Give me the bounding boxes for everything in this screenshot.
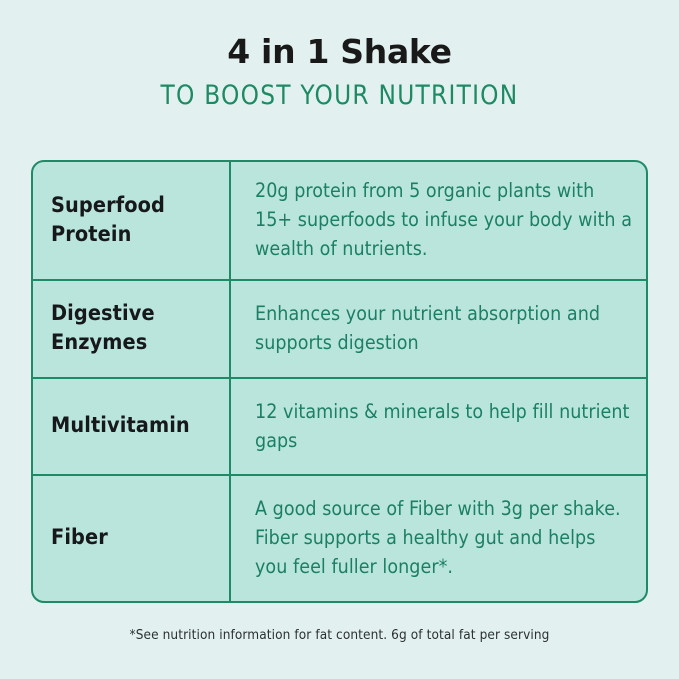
benefits-table: Superfood Protein 20g protein from 5 org… (31, 160, 648, 603)
row-label-multivitamin: Multivitamin (33, 379, 231, 474)
row-description-superfood-protein: 20g protein from 5 organic plants with 1… (231, 162, 646, 279)
row-description-text: A good source of Fiber with 3g per shake… (255, 495, 632, 582)
table-row: Fiber A good source of Fiber with 3g per… (33, 476, 646, 601)
page-subtitle: To Boost Your Nutrition (14, 80, 666, 112)
row-description-text: 12 vitamins & minerals to help fill nutr… (255, 398, 632, 456)
table-row: Multivitamin 12 vitamins & minerals to h… (33, 379, 646, 476)
infographic-page: 4 in 1 Shake To Boost Your Nutrition Sup… (0, 0, 679, 679)
row-label-text: Superfood Protein (51, 192, 223, 249)
header: 4 in 1 Shake To Boost Your Nutrition (0, 33, 679, 112)
table-row: Superfood Protein 20g protein from 5 org… (33, 162, 646, 281)
row-description-text: Enhances your nutrient absorption and su… (255, 300, 632, 358)
row-label-text: Fiber (51, 524, 108, 553)
row-label-text: Multivitamin (51, 412, 190, 441)
row-description-multivitamin: 12 vitamins & minerals to help fill nutr… (231, 379, 646, 474)
row-label-superfood-protein: Superfood Protein (33, 162, 231, 279)
row-description-text: 20g protein from 5 organic plants with 1… (255, 177, 632, 264)
row-label-text: Digestive Enzymes (51, 300, 223, 357)
row-label-digestive-enzymes: Digestive Enzymes (33, 281, 231, 377)
page-title: 4 in 1 Shake (0, 33, 679, 72)
row-description-digestive-enzymes: Enhances your nutrient absorption and su… (231, 281, 646, 377)
row-description-fiber: A good source of Fiber with 3g per shake… (231, 476, 646, 601)
row-label-fiber: Fiber (33, 476, 231, 601)
footnote: *See nutrition information for fat conte… (0, 627, 679, 643)
table-row: Digestive Enzymes Enhances your nutrient… (33, 281, 646, 379)
